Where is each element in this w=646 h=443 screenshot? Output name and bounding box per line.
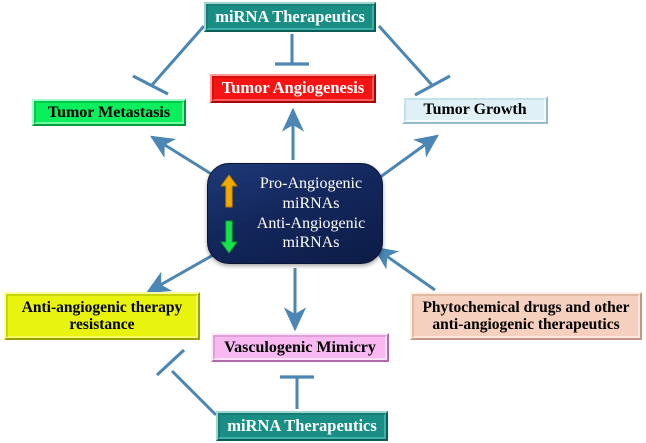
node-tumor-growth[interactable]: Tumor Growth [402,96,548,124]
node-mirna-therapeutics-top[interactable]: miRNA Therapeutics [204,2,376,32]
node-label: Tumor Growth [404,98,546,122]
node-label-line-1: Anti-angiogenic therapy [22,299,183,316]
node-anti-angiogenic-therapy-resistance[interactable]: Anti-angiogenic therapy resistance [4,292,200,340]
node-label-line-2: resistance [69,316,134,333]
central-line-3: Anti-Angiogenic [246,214,376,234]
edge-mirna-top-to-angiogenesis [275,34,309,64]
node-label: Tumor Metastasis [34,101,184,124]
node-central-mirna-balance[interactable]: Pro-Angiogenic miRNAs Anti-Angiogenic mi… [207,163,383,264]
edge-mirna-bottom-to-mimicry [280,377,314,409]
diagram-canvas: miRNA Therapeutics Tumor Angiogenesis Tu… [0,0,646,443]
node-mirna-therapeutics-bottom[interactable]: miRNA Therapeutics [216,411,388,441]
regulation-arrows [220,174,238,254]
edge-phyto-to-central [375,248,435,290]
edge-mirna-top-to-growth [379,26,450,95]
central-line-4: miRNAs [246,233,376,253]
node-vasculogenic-mimicry[interactable]: Vasculogenic Mimicry [211,333,389,362]
central-line-1: Pro-Angiogenic [246,174,376,194]
node-label: Anti-angiogenic therapy resistance [6,294,198,338]
node-label: Phytochemical drugs and other anti-angio… [412,294,640,338]
node-label-line-2: anti-angiogenic therapeutics [432,316,619,333]
node-label: miRNA Therapeutics [206,4,374,30]
node-label-line-1: Phytochemical drugs and other [422,299,629,316]
edge-mirna-top-to-metastasis [133,26,204,94]
node-label: miRNA Therapeutics [218,413,386,439]
central-line-2: miRNAs [246,194,376,214]
up-arrow-icon [220,174,238,208]
node-phytochemical-drugs[interactable]: Phytochemical drugs and other anti-angio… [410,292,642,340]
down-arrow-icon [220,220,238,254]
central-node-text: Pro-Angiogenic miRNAs Anti-Angiogenic mi… [246,174,382,253]
node-tumor-metastasis[interactable]: Tumor Metastasis [32,99,186,126]
node-label: Vasculogenic Mimicry [213,335,387,360]
edge-central-to-resistance [148,250,222,292]
node-tumor-angiogenesis[interactable]: Tumor Angiogenesis [210,74,376,103]
node-label: Tumor Angiogenesis [212,76,374,101]
edge-mirna-bottom-to-resistance [157,350,216,415]
